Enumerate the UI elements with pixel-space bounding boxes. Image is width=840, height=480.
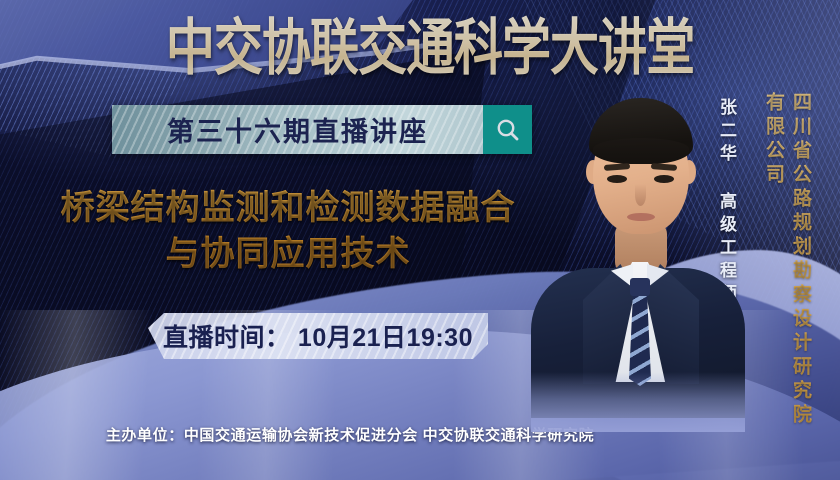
lecture-title: 桥梁结构监测和检测数据融合 与协同应用技术 (28, 186, 548, 277)
speaker-portrait (545, 72, 730, 412)
portrait-tie-knot (630, 278, 650, 296)
portrait-bottom-fade (531, 372, 745, 432)
webinar-poster: 中交协联交通科学大讲堂 第三十六期直播讲座 桥梁结构监测和检测数据融合 与协同应… (0, 0, 840, 480)
portrait-eye-left (607, 175, 627, 183)
lecture-title-line-2: 与协同应用技术 (28, 232, 548, 278)
search-icon[interactable] (483, 105, 532, 154)
portrait-eye-right (654, 175, 674, 183)
session-label: 第三十六期直播讲座 (167, 110, 428, 149)
broadcast-time-text: 直播时间： 10月21日19:30 (163, 318, 473, 354)
portrait-nose (635, 184, 646, 206)
speaker-organization: 四川省公路规划勘察设计研究院有限公司 (760, 92, 814, 437)
portrait-mouth (627, 213, 655, 221)
broadcast-time-chip: 直播时间： 10月21日19:30 (148, 313, 488, 359)
lecture-title-line-1: 桥梁结构监测和检测数据融合 (28, 186, 548, 232)
session-banner: 第三十六期直播讲座 (112, 105, 532, 154)
session-banner-body: 第三十六期直播讲座 (112, 105, 483, 154)
portrait-hair (589, 98, 693, 164)
